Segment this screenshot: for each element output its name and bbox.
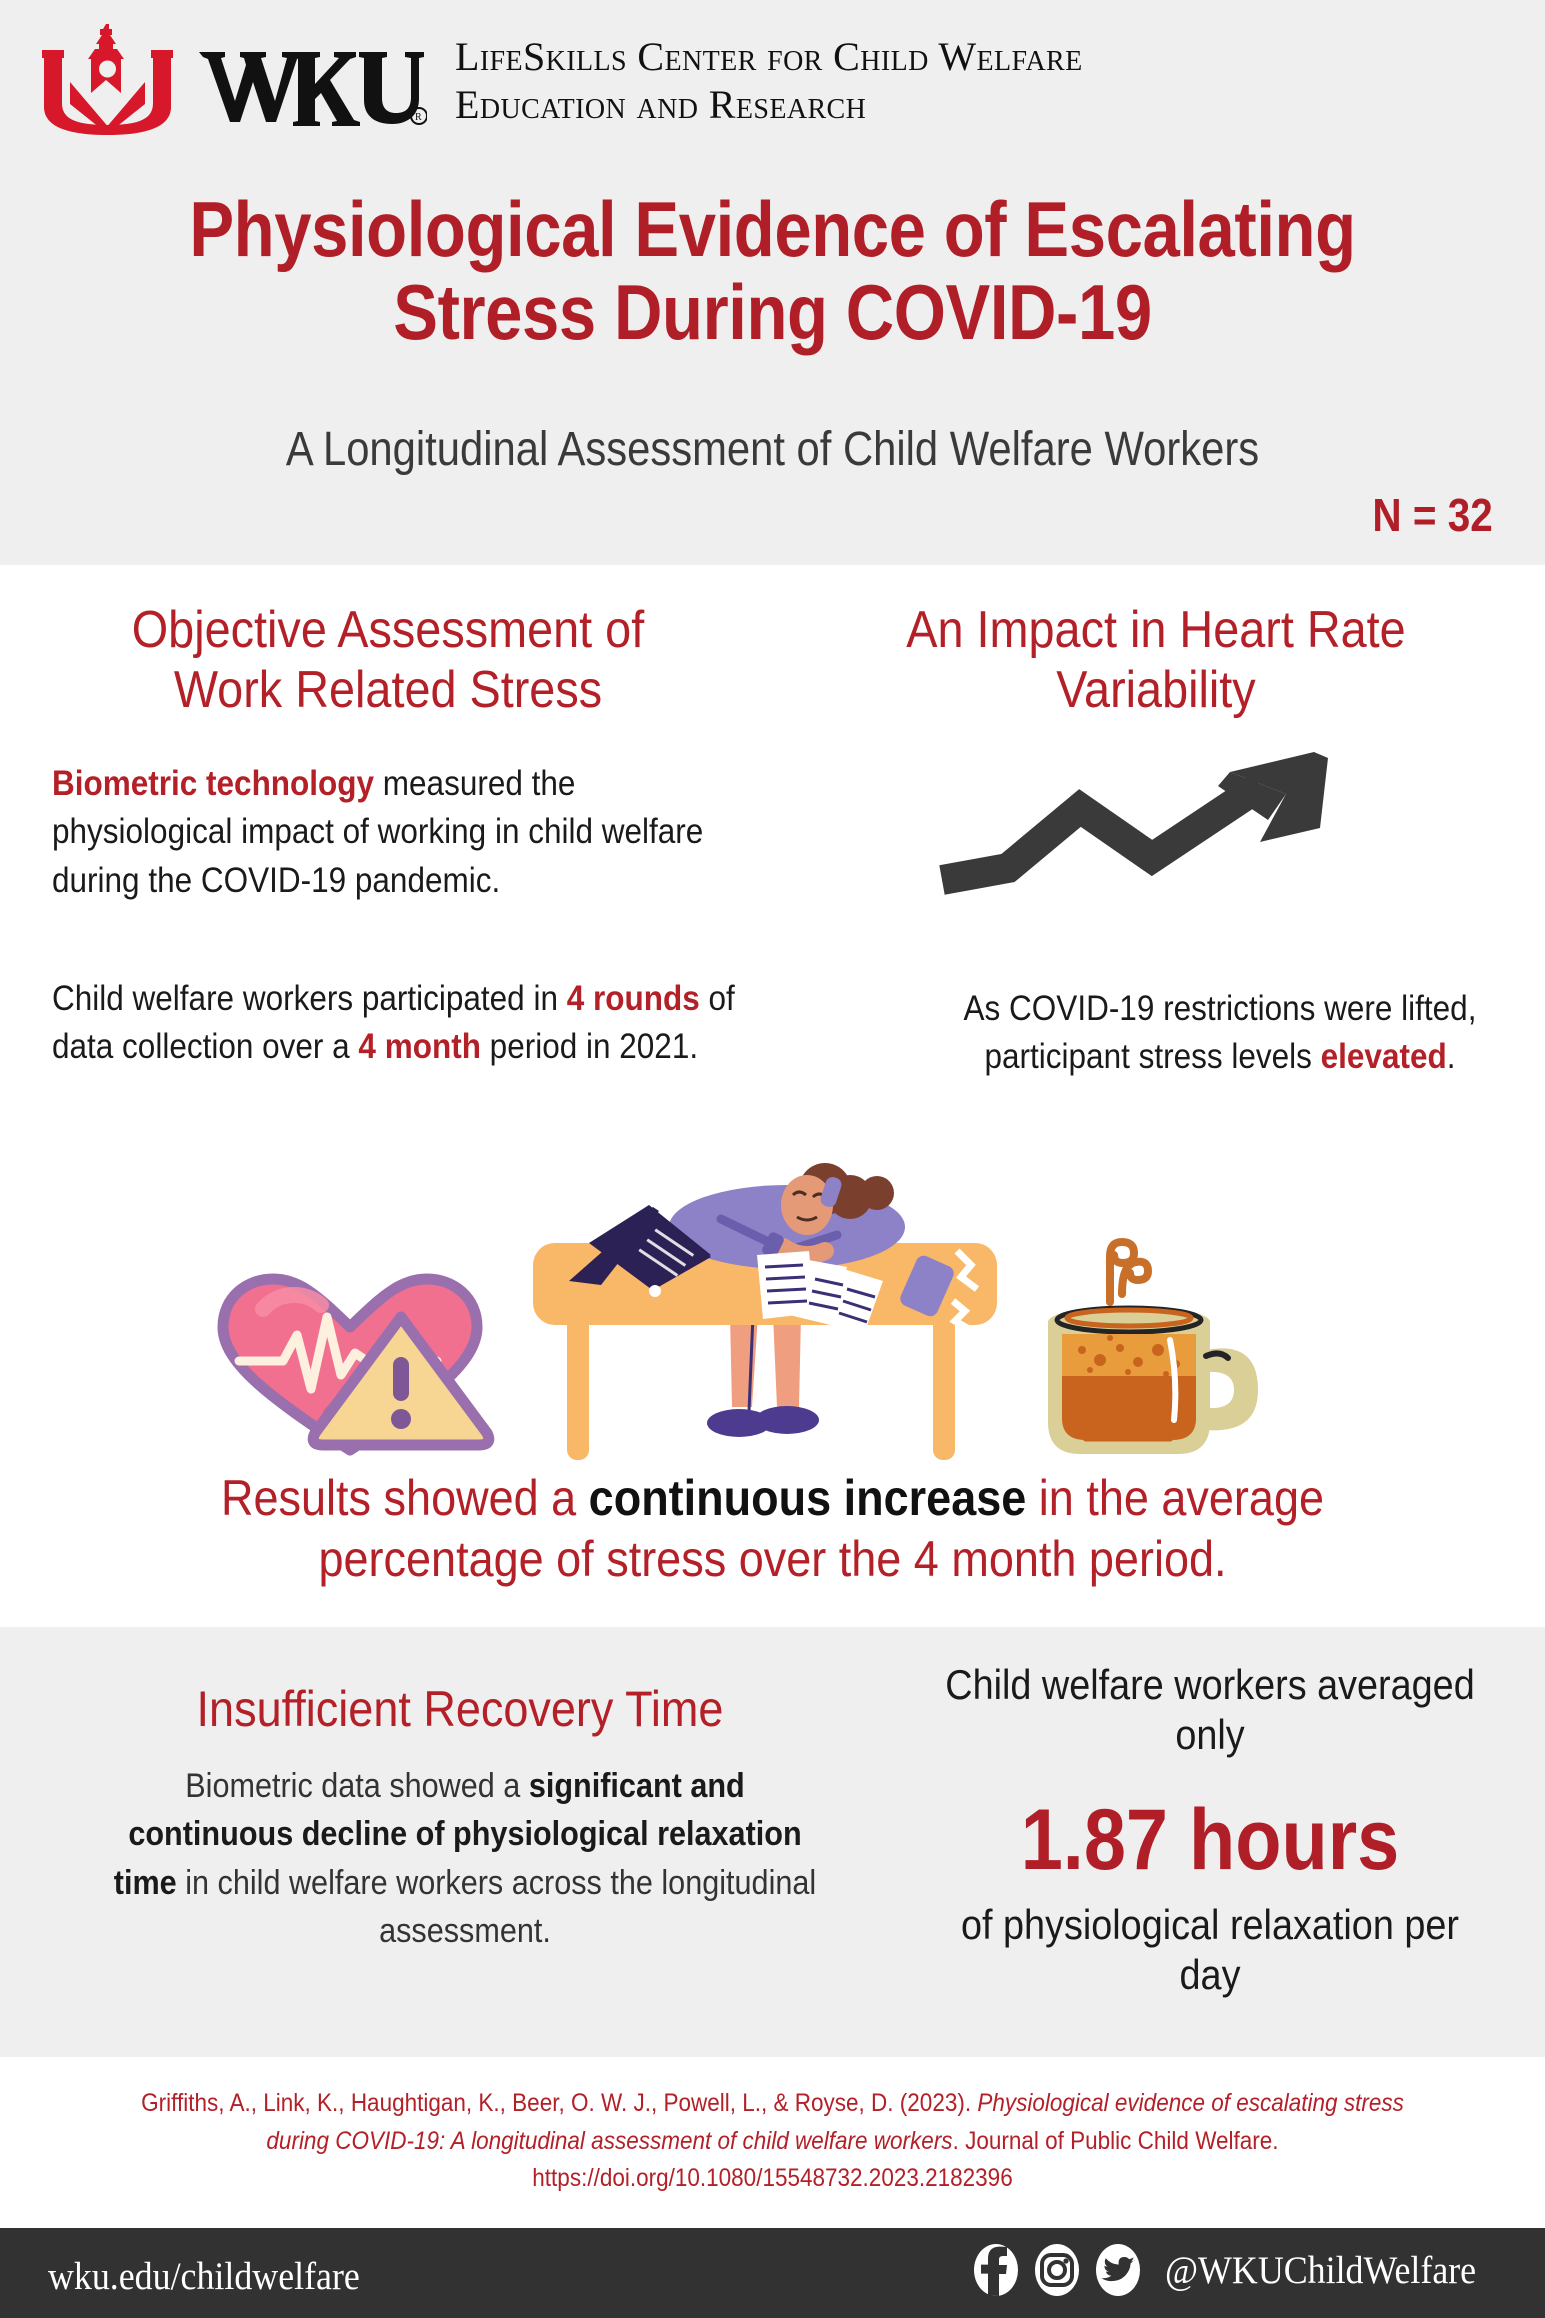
paragraph-2-part-1: Child welfare workers participated in [52, 979, 567, 1018]
footer-social-group: @WKUChildWelfare [970, 2244, 1503, 2296]
brand-lockup: R LifeSkills Center for Child Welfare Ed… [40, 22, 1083, 137]
elevated-emphasis: elevated [1321, 1037, 1447, 1076]
citation: Griffiths, A., Link, K., Haughtigan, K.,… [109, 2085, 1437, 2198]
heart-rate-warning-illustration [205, 1265, 495, 1460]
paragraph-2-part-3: period in 2021. [481, 1027, 698, 1066]
sample-size-badge: N = 32 [1373, 488, 1493, 542]
coffee-mug-illustration [1020, 1190, 1310, 1470]
header-band: R LifeSkills Center for Child Welfare Ed… [0, 0, 1545, 565]
average-stat-top-text: Child welfare workers averaged only [931, 1660, 1489, 1761]
exhausted-worker-at-desk-icon [525, 1155, 1005, 1475]
average-stat-value: 1.87 hours [937, 1795, 1483, 1885]
instagram-icon[interactable] [1031, 2244, 1083, 2296]
footer-social-handle[interactable]: @WKUChildWelfare [1165, 2248, 1476, 2293]
heart-rate-variability-paragraph: As COVID-19 restrictions were lifted, pa… [896, 985, 1544, 1082]
four-rounds-emphasis: 4 rounds [567, 979, 700, 1018]
center-name: LifeSkills Center for Child Welfare Educ… [455, 33, 1083, 127]
upward-trend-arrow-icon [930, 750, 1380, 910]
recovery-part-2: in child welfare workers across the long… [177, 1864, 817, 1950]
page-title: Physiological Evidence of Escalating Str… [160, 188, 1386, 353]
average-stat-bottom-text: of physiological relaxation per day [931, 1900, 1489, 2001]
footer-website-url[interactable]: wku.edu/childwelfare [48, 2254, 360, 2299]
four-month-emphasis: 4 month [358, 1027, 480, 1066]
heart-rate-warning-icon [205, 1265, 495, 1460]
results-part-1: Results showed a [221, 1470, 589, 1526]
objective-assessment-paragraph-1: Biometric technology measured the physio… [52, 760, 763, 905]
hrv-paragraph-part-2: . [1447, 1037, 1456, 1076]
section-heading-objective-assessment: Objective Assessment of Work Related Str… [73, 600, 703, 721]
biometric-technology-emphasis: Biometric technology [52, 764, 374, 803]
page-subtitle: A Longitudinal Assessment of Child Welfa… [135, 424, 1410, 477]
citation-authors-year: Griffiths, A., Link, K., Haughtigan, K.,… [141, 2089, 977, 2117]
infographic-page: R LifeSkills Center for Child Welfare Ed… [0, 0, 1545, 2318]
results-banner: Results showed a continuous increase in … [113, 1468, 1432, 1590]
recovery-part-1: Biometric data showed a [185, 1767, 529, 1805]
section-heading-heart-rate-variability: An Impact in Heart Rate Variability [836, 600, 1477, 721]
recovery-paragraph: Biometric data showed a significant and … [101, 1762, 830, 1955]
facebook-icon[interactable] [970, 2244, 1022, 2296]
continuous-increase-emphasis: continuous increase [589, 1470, 1027, 1526]
section-heading-insufficient-recovery-time: Insufficient Recovery Time [82, 1682, 838, 1737]
twitter-icon[interactable] [1092, 2244, 1144, 2296]
upward-trend-arrow-container [930, 750, 1380, 910]
exhausted-worker-illustration [525, 1155, 1005, 1475]
footer-bar: wku.edu/childwelfare @WKUChildWelfare [0, 2228, 1545, 2318]
wku-tower-logo-icon [40, 22, 175, 137]
coffee-mug-icon [1020, 1190, 1310, 1470]
objective-assessment-paragraph-2: Child welfare workers participated in 4 … [52, 975, 763, 1072]
wku-wordmark-icon: R [197, 34, 427, 126]
svg-text:R: R [415, 112, 422, 123]
